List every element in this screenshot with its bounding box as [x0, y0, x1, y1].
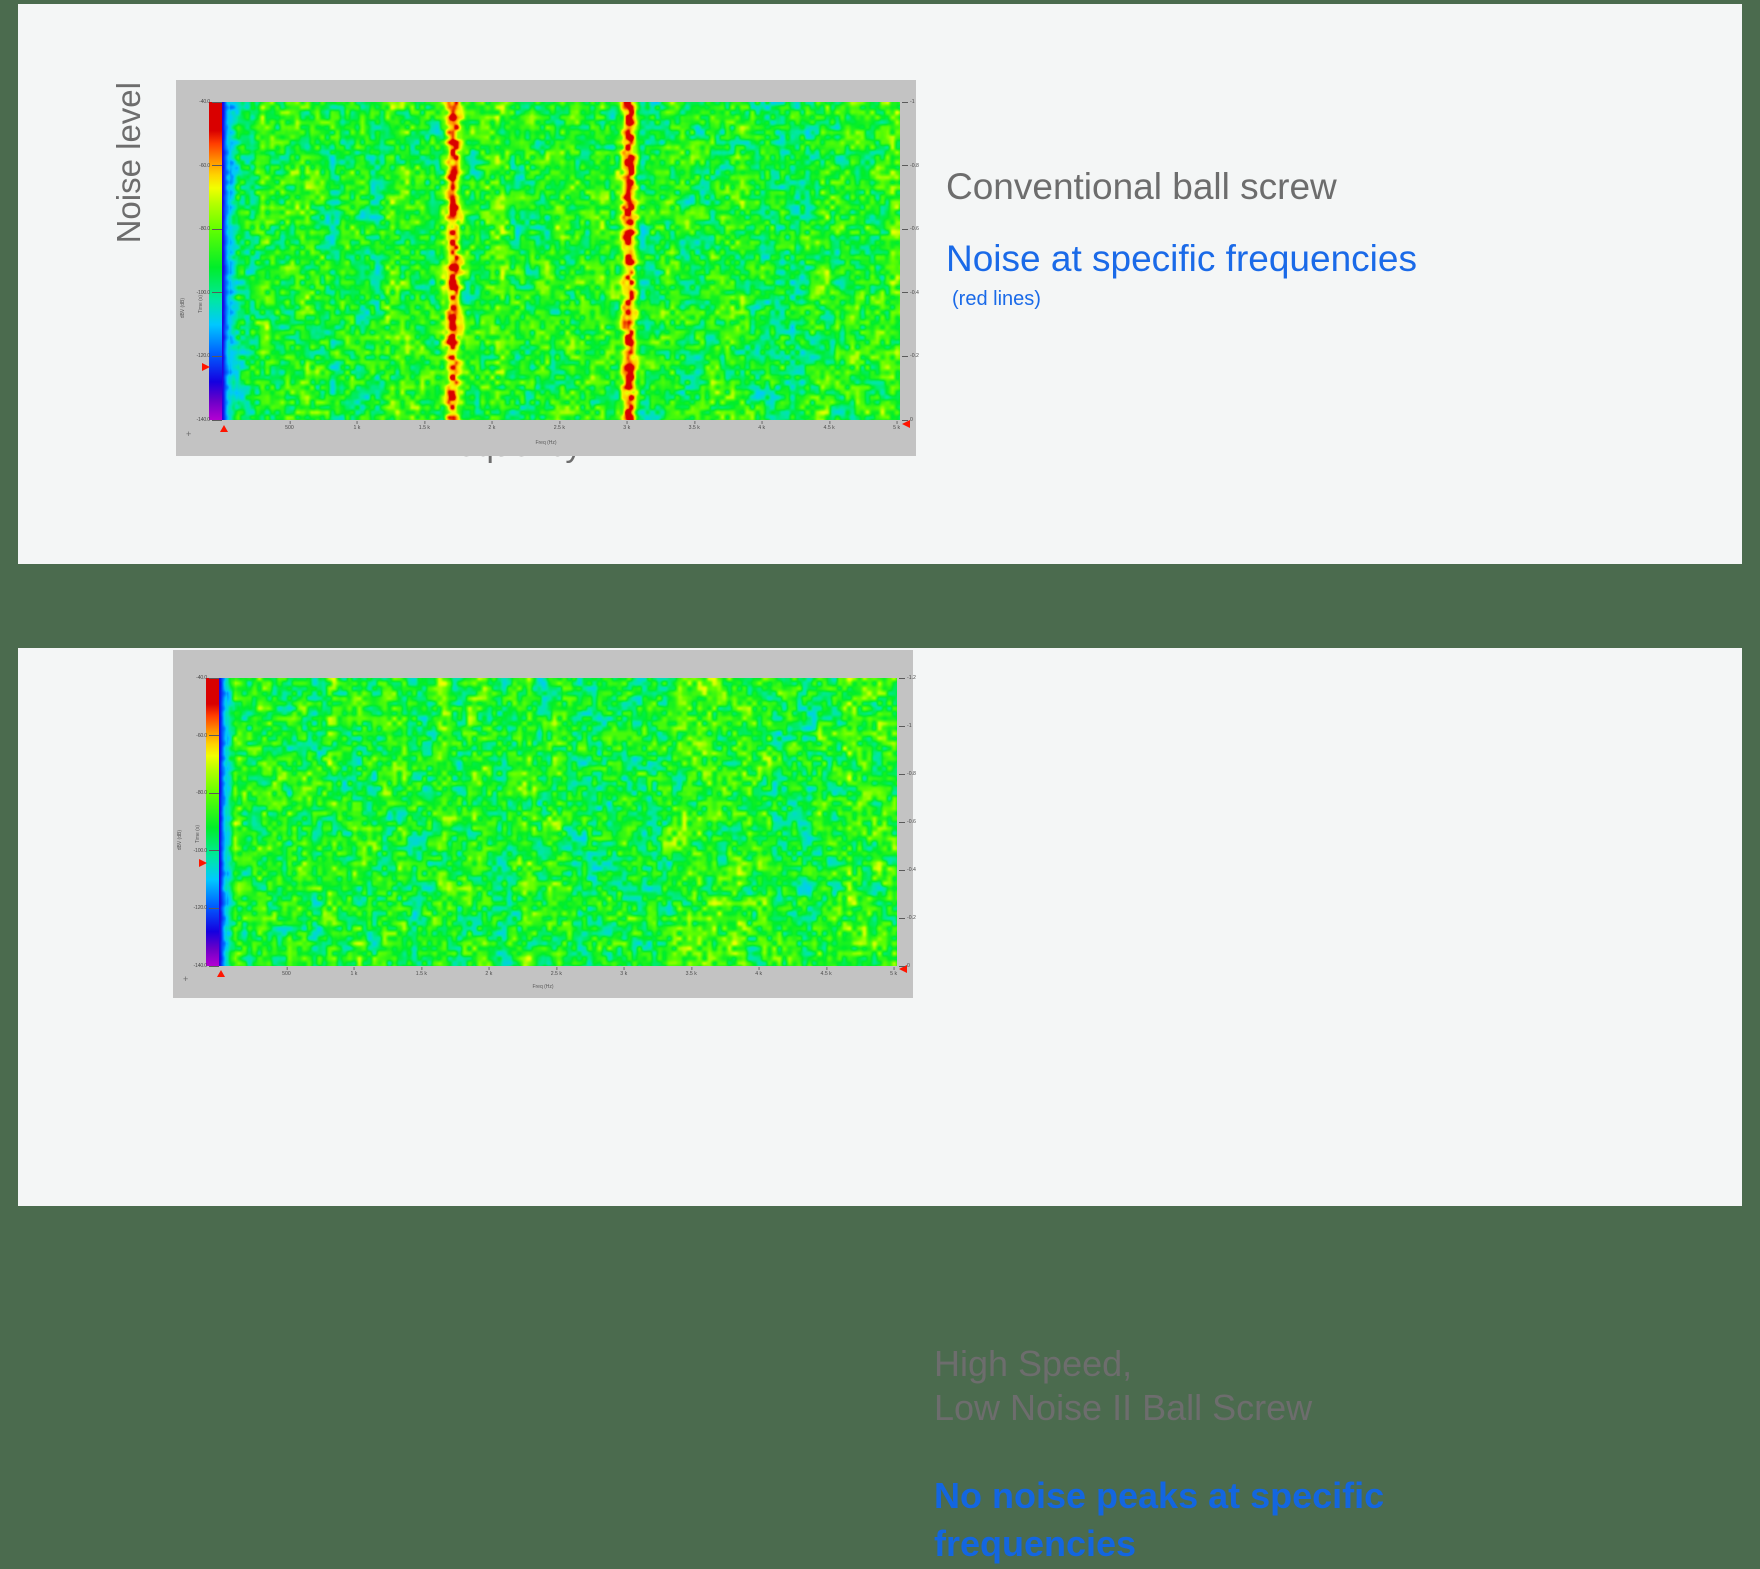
x-tick-label: 2.5 k	[551, 971, 562, 977]
x-tick-label: 2 k	[485, 971, 492, 977]
right-tick-label: -0.2	[902, 352, 919, 360]
right-tick-label: -0.2	[899, 914, 916, 922]
x-tick-label: 1 k	[350, 971, 357, 977]
y-axis-ticks: -40.0-60.0-80.0-100.0-120.0-140.0	[173, 678, 219, 966]
x-tick-label: 4.5 k	[824, 425, 835, 431]
left-marker-triangle-icon	[202, 363, 210, 371]
right-tick-label: -0.6	[902, 225, 919, 233]
bottom-subheading: No noise peaks at specific frequencies	[934, 1472, 1574, 1569]
crosshair-plus-icon: +	[183, 975, 188, 984]
top-panel: Noise level Frequency -40.0-60.0-80.0-10…	[18, 4, 1742, 564]
x-axis-unit-label: Freq (Hz)	[535, 440, 556, 446]
x-tick-label: 500	[285, 425, 294, 431]
slide-root: Noise level Frequency -40.0-60.0-80.0-10…	[0, 0, 1760, 1210]
left-marker-triangle-icon	[199, 859, 207, 867]
y-tick-label: -120.0	[193, 904, 219, 912]
spectrogram-canvas	[222, 102, 900, 420]
right-tick-label: 0	[899, 962, 910, 970]
x-tick-label: 4.5 k	[821, 971, 832, 977]
x-tick-label: 3.5 k	[686, 971, 697, 977]
x-tick-label: 2.5 k	[554, 425, 565, 431]
x-tick-label: 5 k	[890, 971, 897, 977]
right-tick-label: -0.6	[899, 818, 916, 826]
spectrogram-plot-area	[219, 678, 897, 966]
x-tick-label: 4 k	[758, 425, 765, 431]
right-tick-label: -1.2	[899, 674, 916, 682]
y-tick-label: -40.0	[196, 674, 219, 682]
x-tick-label: 5 k	[893, 425, 900, 431]
x-tick-label: 1.5 k	[416, 971, 427, 977]
low-noise-spectrogram-chart: -40.0-60.0-80.0-100.0-120.0-140.0 dBV (d…	[173, 650, 913, 998]
bottom-text-block: High Speed, Low Noise II Ball Screw No n…	[934, 1342, 1574, 1569]
y-tick-label: -80.0	[196, 789, 219, 797]
y-axis-unit-label: dBV (dB)	[177, 830, 183, 850]
right-tick-label: -1	[902, 98, 915, 106]
x-tick-label: 1.5 k	[419, 425, 430, 431]
y-tick-label: -60.0	[199, 162, 222, 170]
spectrogram-instrument-panel: -40.0-60.0-80.0-100.0-120.0-140.0 dBV (d…	[173, 650, 913, 998]
right-axis-unit-label: Time (s)	[195, 825, 201, 843]
bottom-heading: High Speed, Low Noise II Ball Screw	[934, 1342, 1574, 1430]
x-tick-label: 4 k	[755, 971, 762, 977]
crosshair-plus-icon: +	[186, 430, 191, 439]
top-heading: Conventional ball screw	[946, 164, 1566, 209]
conventional-spectrogram-chart: -40.0-60.0-80.0-100.0-120.0-140.0 dBV (d…	[176, 80, 916, 456]
right-tick-label: -0.4	[902, 289, 919, 297]
right-tick-label: -1	[899, 722, 912, 730]
x-axis-ticks: 5001 k1.5 k2 k2.5 k3 k3.5 k4 k4.5 k5 k	[222, 421, 900, 437]
y-tick-label: -60.0	[196, 732, 219, 740]
x-tick-label: 2 k	[488, 425, 495, 431]
y-axis-ticks: -40.0-60.0-80.0-100.0-120.0-140.0	[176, 102, 222, 420]
spectrogram-plot-area	[222, 102, 900, 420]
top-note: (red lines)	[952, 288, 1566, 311]
y-tick-label: -120.0	[196, 352, 222, 360]
y-axis-unit-label: dBV (dB)	[180, 298, 186, 318]
right-tick-label: -0.8	[902, 162, 919, 170]
x-tick-label: 3 k	[620, 971, 627, 977]
y-tick-label: -80.0	[199, 225, 222, 233]
y-tick-label: -140.0	[193, 962, 219, 970]
right-tick-label: -0.8	[899, 770, 916, 778]
y-axis-caption: Noise level	[110, 82, 148, 243]
bottom-panel: -40.0-60.0-80.0-100.0-120.0-140.0 dBV (d…	[18, 648, 1742, 1206]
right-tick-label: 0	[902, 416, 913, 424]
x-tick-label: 1 k	[353, 425, 360, 431]
x-axis-unit-label: Freq (Hz)	[532, 984, 553, 990]
spectrogram-instrument-panel: -40.0-60.0-80.0-100.0-120.0-140.0 dBV (d…	[176, 80, 916, 456]
y-tick-label: -100.0	[193, 847, 219, 855]
right-axis-ticks: -1-0.8-0.6-0.4-0.20	[902, 102, 936, 420]
y-tick-label: -140.0	[196, 416, 222, 424]
x-tick-label: 3 k	[623, 425, 630, 431]
right-axis-ticks: -1.2-1-0.8-0.6-0.4-0.20	[899, 678, 933, 966]
x-tick-label: 500	[282, 971, 291, 977]
right-axis-unit-label: Time (s)	[198, 295, 204, 313]
y-tick-label: -40.0	[199, 98, 222, 106]
x-axis-ticks: 5001 k1.5 k2 k2.5 k3 k3.5 k4 k4.5 k5 k	[219, 967, 897, 983]
x-tick-label: 3.5 k	[689, 425, 700, 431]
right-tick-label: -0.4	[899, 866, 916, 874]
top-text-block: Conventional ball screw Noise at specifi…	[946, 164, 1566, 311]
top-subheading: Noise at specific frequencies	[946, 237, 1566, 281]
spectrogram-canvas	[219, 678, 897, 966]
